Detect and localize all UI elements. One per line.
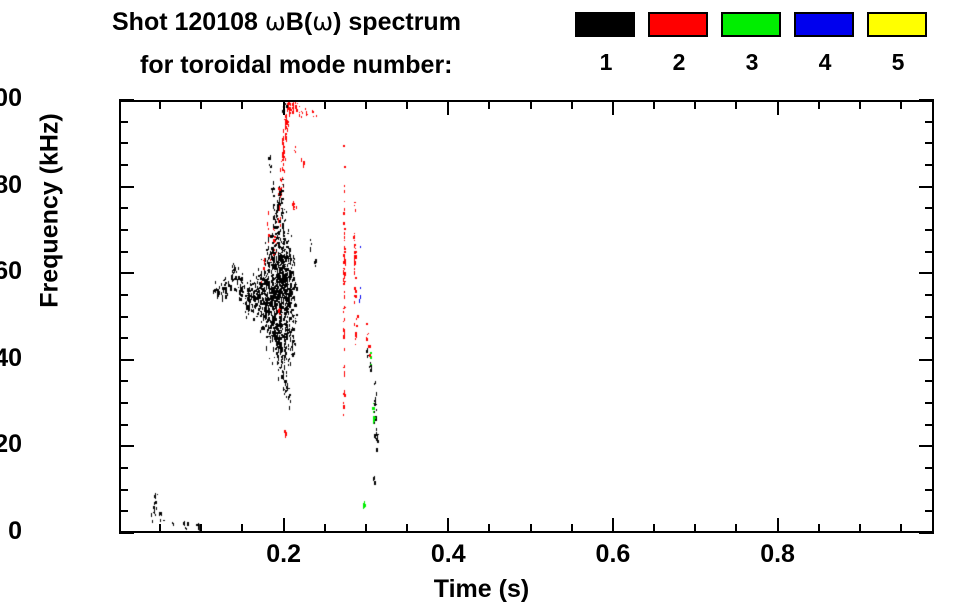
x-tick-top-0.5 — [530, 100, 532, 109]
legend-label-5: 5 — [867, 51, 929, 74]
y-tick-15 — [119, 467, 128, 469]
x-tick-top-0.55 — [571, 100, 573, 109]
x-axis-title: Time (s) — [0, 575, 963, 604]
y-tick-right-50 — [925, 316, 934, 318]
y-tick-80 — [119, 186, 134, 188]
legend-entry-5[interactable]: 5 — [867, 12, 929, 74]
x-tick-label-0.2: 0.2 — [244, 542, 324, 567]
y-tick-40 — [119, 359, 134, 361]
legend-swatch-1 — [575, 12, 635, 37]
x-tick-top-0.25 — [324, 100, 326, 109]
y-tick-85 — [119, 164, 128, 166]
spectrogram-figure: Shot 120108 ωB(ω) spectrum for toroidal … — [0, 0, 963, 615]
x-tick-0.95 — [900, 524, 902, 533]
page-subtitle: for toroidal mode number: — [140, 51, 453, 80]
legend-swatch-5 — [867, 12, 927, 37]
x-tick-0.65 — [653, 524, 655, 533]
y-tick-label-20: 20 — [0, 432, 22, 457]
y-tick-right-45 — [925, 337, 934, 339]
x-tick-0.5 — [530, 524, 532, 533]
y-tick-right-95 — [925, 121, 934, 123]
legend-entry-3[interactable]: 3 — [721, 12, 783, 74]
x-tick-0.9 — [859, 524, 861, 533]
x-tick-label-0.6: 0.6 — [573, 542, 653, 567]
y-tick-right-80 — [919, 186, 934, 188]
y-tick-20 — [119, 445, 134, 447]
x-tick-top-0.85 — [818, 100, 820, 109]
y-tick-75 — [119, 207, 128, 209]
x-tick-0.1 — [200, 524, 202, 533]
x-tick-top-0.65 — [653, 100, 655, 109]
x-tick-top-0.7 — [694, 100, 696, 109]
legend: 12345 — [575, 12, 955, 92]
x-tick-label-0.8: 0.8 — [738, 542, 818, 567]
x-tick-top-0.8 — [777, 100, 779, 115]
y-tick-100 — [119, 99, 134, 101]
y-tick-right-65 — [925, 251, 934, 253]
y-tick-label-0: 0 — [8, 519, 22, 544]
y-tick-90 — [119, 142, 128, 144]
y-tick-right-55 — [925, 294, 934, 296]
legend-entry-2[interactable]: 2 — [648, 12, 710, 74]
y-tick-right-70 — [925, 229, 934, 231]
x-tick-top-0.35 — [406, 100, 408, 109]
x-tick-0.75 — [735, 524, 737, 533]
x-tick-0.35 — [406, 524, 408, 533]
legend-label-2: 2 — [648, 51, 710, 74]
x-tick-top-0.45 — [488, 100, 490, 109]
x-tick-top-0.6 — [612, 100, 614, 115]
x-tick-0.15 — [241, 524, 243, 533]
x-tick-0.7 — [694, 524, 696, 533]
y-tick-5 — [119, 510, 128, 512]
x-tick-top-0.75 — [735, 100, 737, 109]
legend-label-3: 3 — [721, 51, 783, 74]
omega-symbol-2: ω — [312, 7, 333, 36]
y-tick-0 — [119, 532, 134, 534]
y-tick-right-25 — [925, 424, 934, 426]
y-tick-65 — [119, 251, 128, 253]
legend-label-1: 1 — [575, 51, 637, 74]
x-tick-top-0.9 — [859, 100, 861, 109]
title-prefix: Shot 120108 — [112, 8, 265, 36]
y-tick-right-5 — [925, 510, 934, 512]
title-mid: B( — [286, 8, 312, 36]
plot-area — [119, 100, 934, 533]
y-tick-right-10 — [925, 489, 934, 491]
x-tick-0.3 — [365, 524, 367, 533]
x-tick-label-0.4: 0.4 — [408, 542, 488, 567]
x-tick-0.55 — [571, 524, 573, 533]
x-tick-0.4 — [447, 518, 449, 533]
y-tick-right-90 — [925, 142, 934, 144]
x-tick-top-0.05 — [159, 100, 161, 109]
legend-swatch-4 — [794, 12, 854, 37]
x-tick-0.6 — [612, 518, 614, 533]
y-axis-title: Frequency (kHz) — [36, 66, 65, 356]
y-tick-right-30 — [925, 402, 934, 404]
y-tick-25 — [119, 424, 128, 426]
y-tick-50 — [119, 316, 128, 318]
x-tick-0.85 — [818, 524, 820, 533]
y-tick-60 — [119, 272, 134, 274]
y-tick-right-60 — [919, 272, 934, 274]
y-tick-right-20 — [919, 445, 934, 447]
y-tick-45 — [119, 337, 128, 339]
page-title: Shot 120108 ωB(ω) spectrum — [112, 7, 461, 37]
legend-swatch-3 — [721, 12, 781, 37]
y-tick-55 — [119, 294, 128, 296]
x-tick-top-0.1 — [200, 100, 202, 109]
y-tick-label-60: 60 — [0, 259, 22, 284]
x-tick-top-0.4 — [447, 100, 449, 115]
omega-symbol-1: ω — [265, 7, 286, 36]
y-tick-right-35 — [925, 380, 934, 382]
legend-entry-4[interactable]: 4 — [794, 12, 856, 74]
y-tick-label-80: 80 — [0, 173, 22, 198]
y-tick-95 — [119, 121, 128, 123]
legend-label-4: 4 — [794, 51, 856, 74]
x-tick-0.05 — [159, 524, 161, 533]
y-tick-right-85 — [925, 164, 934, 166]
title-suffix: ) spectrum — [333, 8, 461, 36]
y-tick-right-100 — [919, 99, 934, 101]
x-tick-0.25 — [324, 524, 326, 533]
y-tick-30 — [119, 402, 128, 404]
y-tick-70 — [119, 229, 128, 231]
y-tick-label-40: 40 — [0, 346, 22, 371]
x-tick-top-0.95 — [900, 100, 902, 109]
legend-entry-1[interactable]: 1 — [575, 12, 637, 74]
y-tick-right-0 — [919, 532, 934, 534]
legend-swatch-2 — [648, 12, 708, 37]
x-tick-top-0.2 — [283, 100, 285, 115]
spectrogram-canvas — [119, 100, 934, 533]
y-tick-10 — [119, 489, 128, 491]
y-tick-right-40 — [919, 359, 934, 361]
y-tick-35 — [119, 380, 128, 382]
x-tick-0.2 — [283, 518, 285, 533]
y-tick-right-75 — [925, 207, 934, 209]
x-tick-0.8 — [777, 518, 779, 533]
x-tick-top-0.3 — [365, 100, 367, 109]
x-tick-0.45 — [488, 524, 490, 533]
y-tick-label-100: 100 — [0, 86, 22, 111]
x-tick-top-0.15 — [241, 100, 243, 109]
y-tick-right-15 — [925, 467, 934, 469]
